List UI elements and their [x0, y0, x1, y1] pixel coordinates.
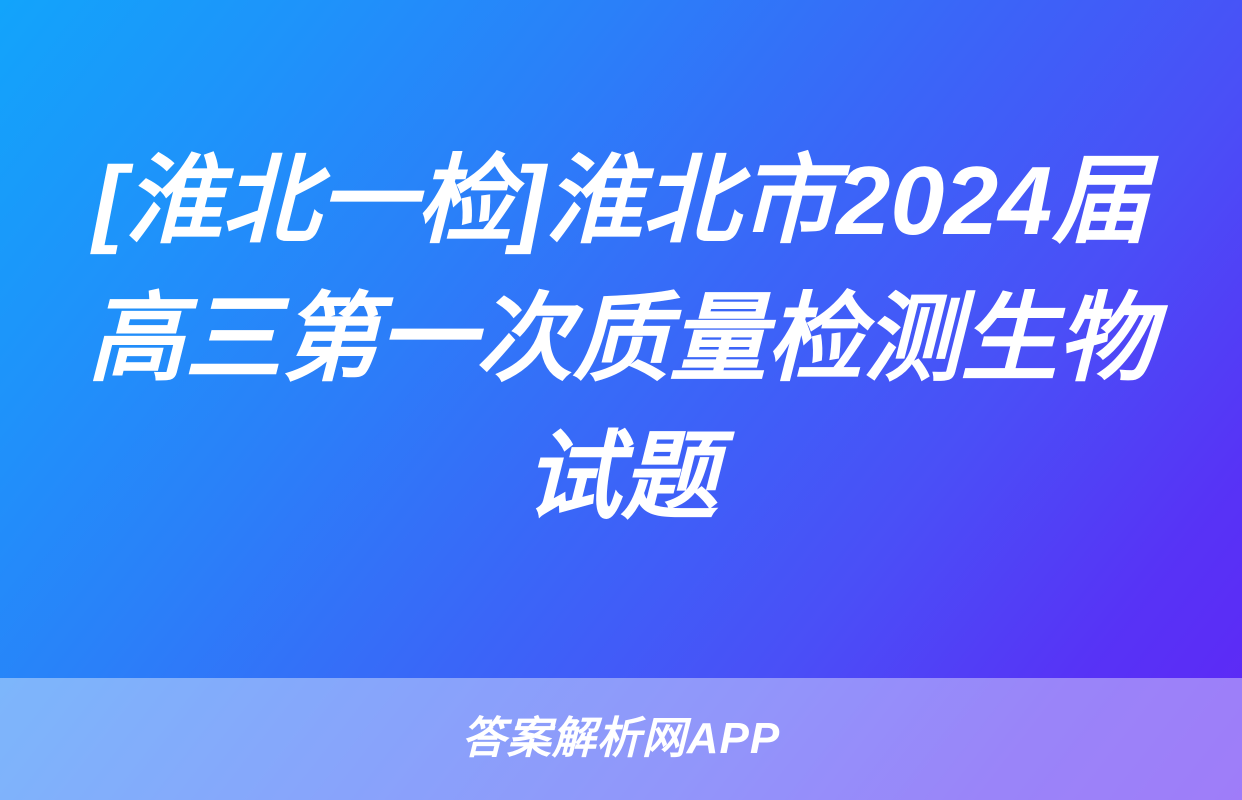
watermark-band: 答案解析网APP: [0, 678, 1242, 800]
page-title: [淮北一检]淮北市2024届高三第一次质量检测生物试题: [52, 132, 1190, 545]
cover-title-block: [淮北一检]淮北市2024届高三第一次质量检测生物试题: [0, 0, 1242, 678]
exam-cover-card: [淮北一检]淮北市2024届高三第一次质量检测生物试题 答案解析网APP: [0, 0, 1242, 800]
watermark-text: 答案解析网APP: [462, 717, 780, 761]
